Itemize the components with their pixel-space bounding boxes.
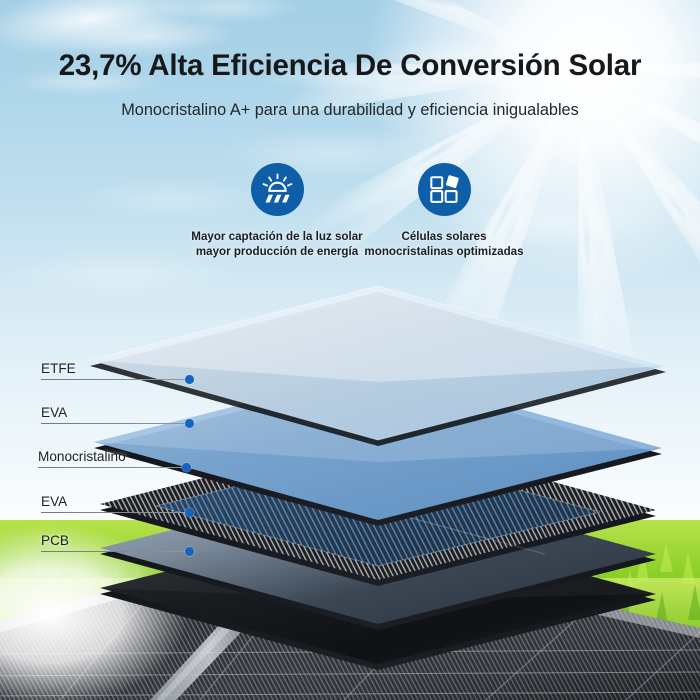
leader-line	[38, 467, 186, 468]
leader-dot	[185, 419, 194, 428]
leader-line	[41, 551, 189, 552]
product-photo-solar-panel-on-grass	[0, 520, 700, 700]
solar-cells-grid-icon	[429, 174, 460, 205]
layer-label-text: ETFE	[41, 361, 76, 376]
feature-caption: Células solares monocristalinas optimiza…	[344, 229, 544, 259]
leader-line	[41, 423, 189, 424]
layer-eva-upper	[94, 370, 662, 526]
page-title: 23,7% Alta Eficiencia De Conversión Sola…	[0, 49, 700, 83]
layer-label-text: EVA	[41, 494, 67, 509]
cloud-wisp	[120, 0, 330, 30]
feature-caption-line-1: Células solares	[344, 229, 544, 244]
leader-dot	[185, 375, 194, 384]
feature-caption-line-2: monocristalinas optimizadas	[344, 244, 544, 259]
sun-over-solar-panel-icon	[261, 173, 294, 206]
layer-label-text: Monocristalino	[38, 449, 126, 464]
infographic-canvas: 23,7% Alta Eficiencia De Conversión Sola…	[0, 0, 700, 700]
feature-icon-badge	[251, 163, 304, 216]
leader-dot	[182, 463, 191, 472]
leader-line	[41, 512, 189, 513]
leader-dot	[185, 508, 194, 517]
leader-line	[41, 379, 189, 380]
layer-label-text: EVA	[41, 405, 67, 420]
page-subtitle: Monocristalino A+ para una durabilidad y…	[0, 101, 700, 120]
layer-label-text: PCB	[41, 533, 69, 548]
leader-dot	[185, 547, 194, 556]
feature-optimized-cells: Células solares monocristalinas optimiza…	[344, 163, 544, 259]
feature-icon-badge	[418, 163, 471, 216]
